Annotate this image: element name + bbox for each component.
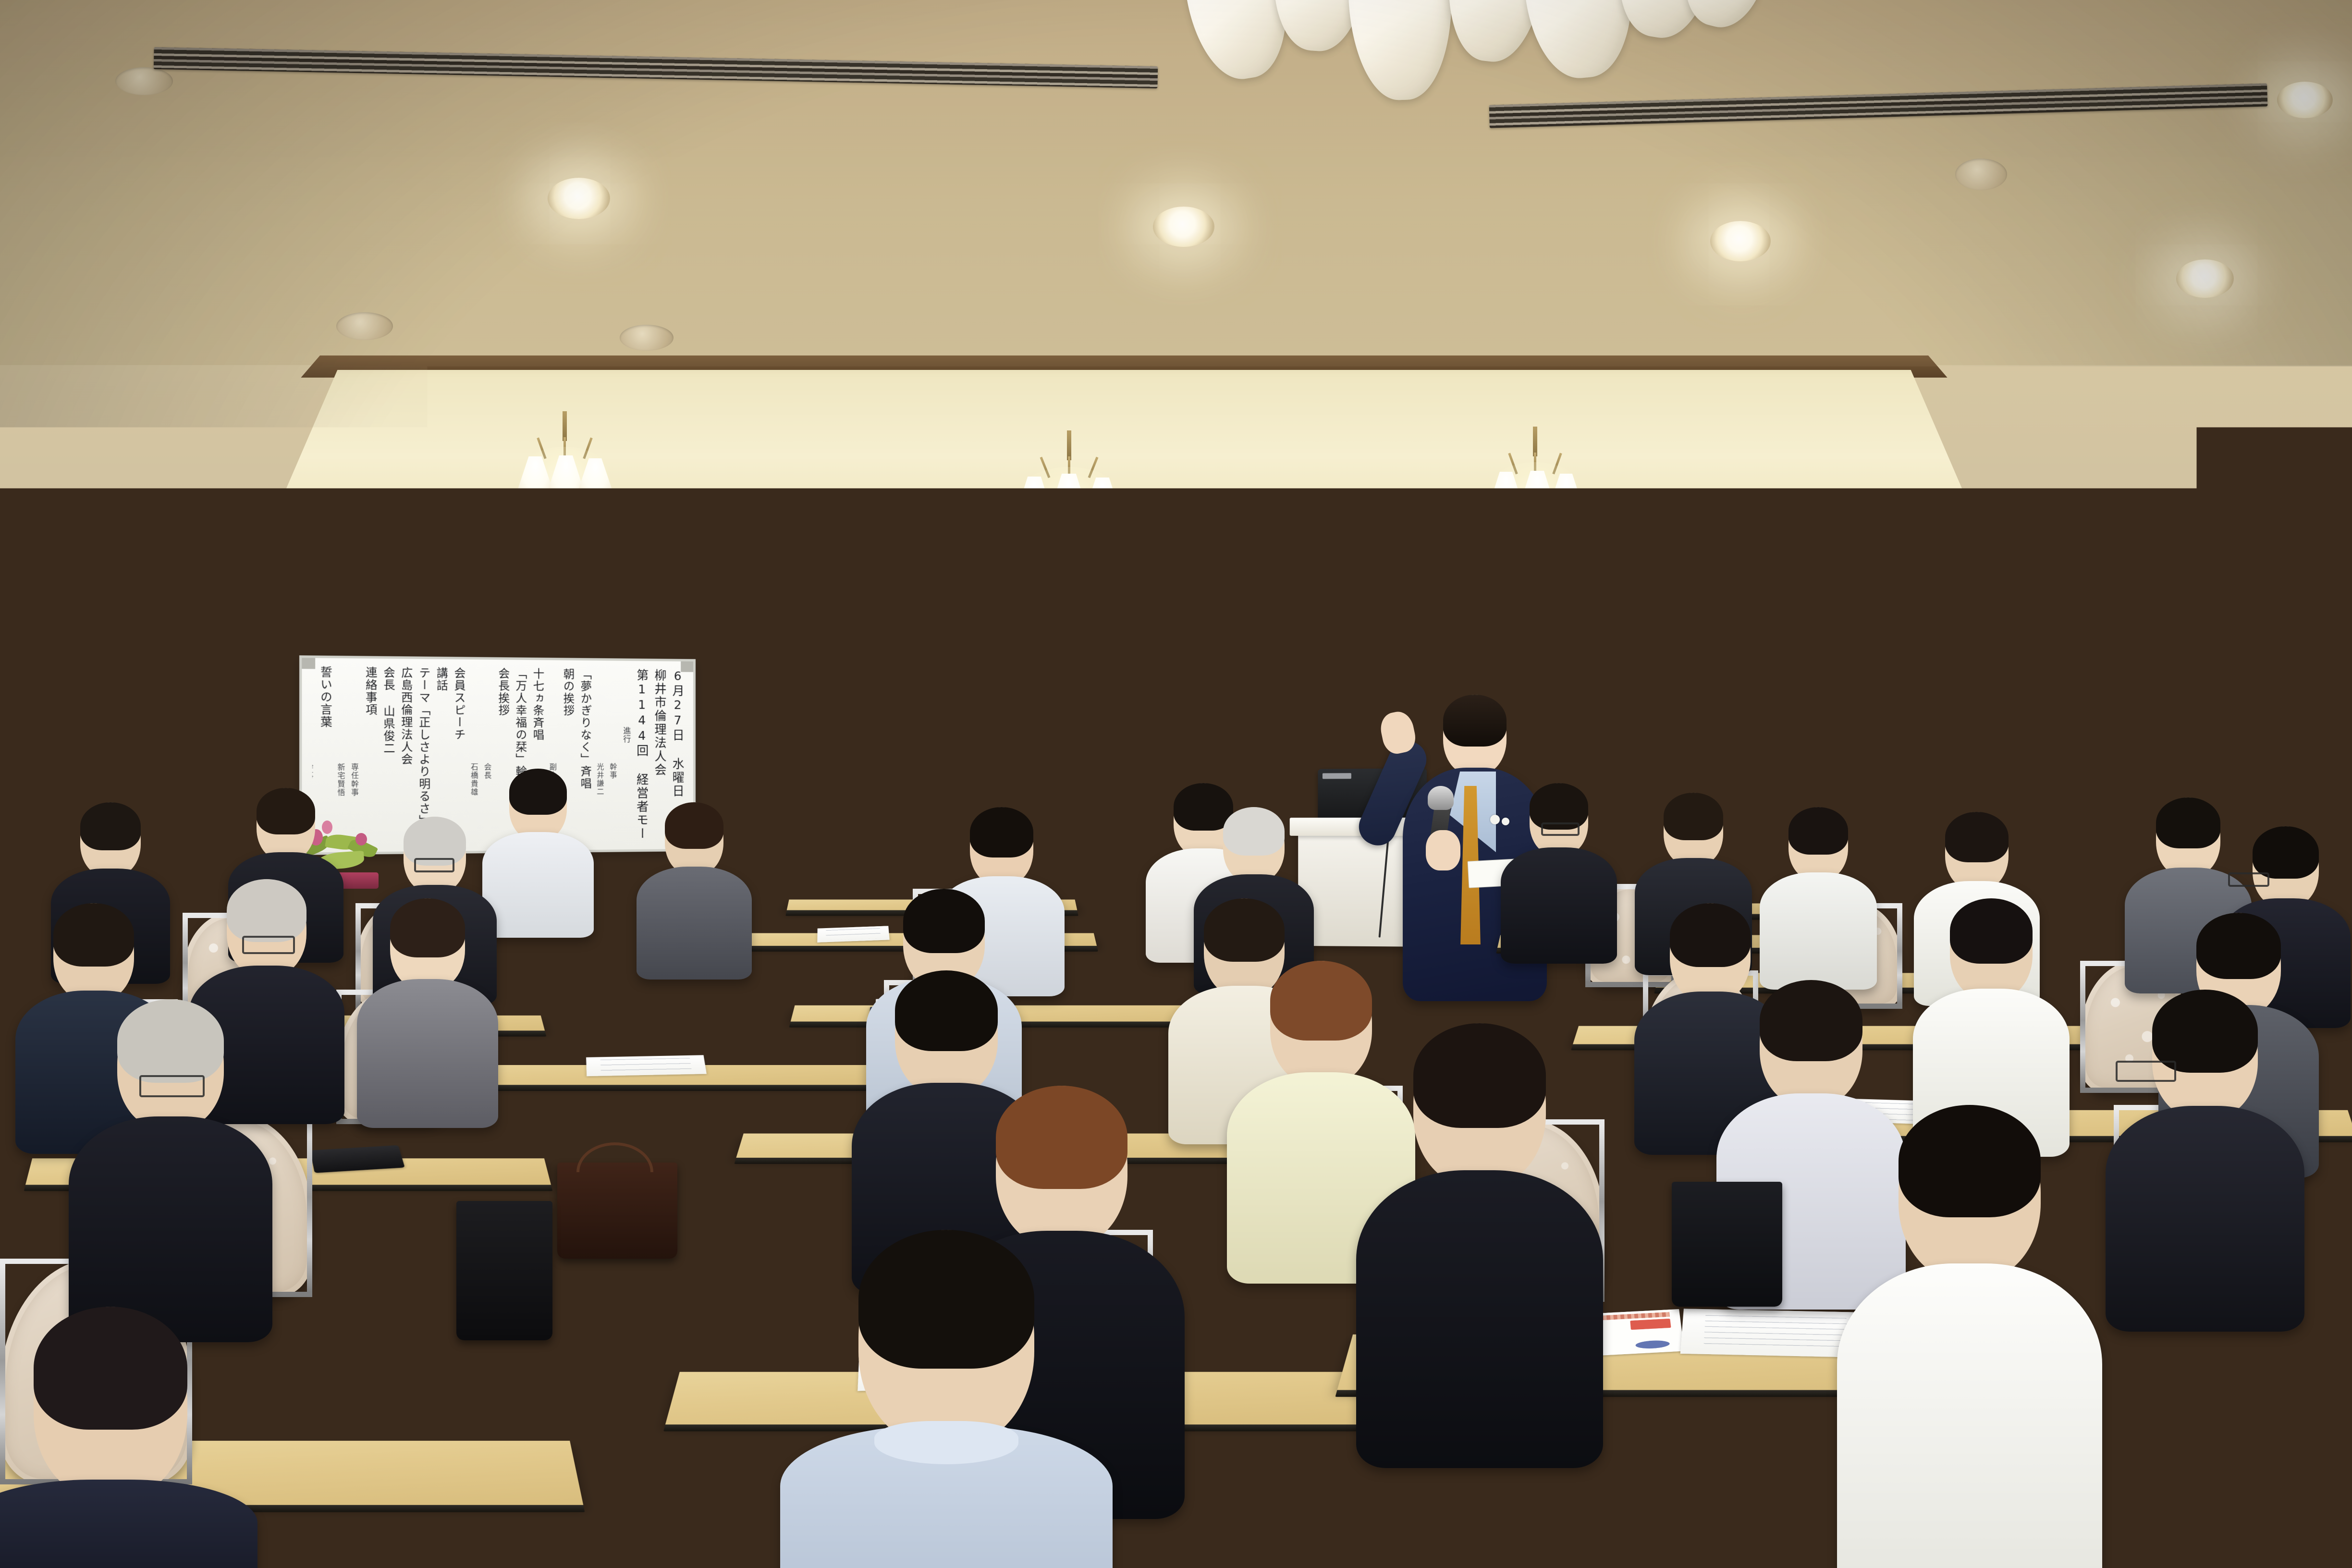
attendee: [67, 999, 274, 1326]
briefcase[interactable]: [456, 1201, 552, 1340]
chandelier-shade: [1523, 0, 1639, 82]
attendee: [1499, 783, 1619, 951]
handout-paper[interactable]: [586, 1055, 707, 1076]
downlight-icon: [2176, 259, 2234, 298]
eyeglasses-icon: [1541, 822, 1580, 836]
presenter-hair: [1443, 695, 1507, 747]
sconce-arm: [696, 600, 699, 618]
attendee: [634, 802, 754, 966]
eyeglasses-icon: [139, 1075, 205, 1097]
pendant-lamp: [1480, 427, 1590, 526]
chandelier-shade: [1347, 0, 1455, 102]
downlight-icon: [1710, 221, 1771, 261]
emergency-exit-sign: [2105, 553, 2195, 596]
attendee: [1912, 898, 2070, 1139]
attendee: [778, 1230, 1115, 1568]
agenda-mc-role: 幹事: [609, 763, 617, 842]
handbag[interactable]: [557, 1163, 677, 1259]
presenter-mic-hand: [1426, 830, 1460, 870]
pendant-lamp: [509, 411, 620, 507]
race-bib-number: 6043: [1104, 720, 1137, 742]
downlight-icon: [2277, 82, 2333, 118]
attendee: [0, 1307, 259, 1568]
slide-photo-left: [850, 628, 1028, 828]
attendee: [355, 898, 500, 1110]
attendee: [2104, 990, 2306, 1316]
sconce-arm: [1306, 611, 1309, 628]
shoulder-bag[interactable]: [1672, 1182, 1782, 1307]
downlight-icon: [336, 312, 393, 340]
lapel-pin-icon: [1490, 815, 1500, 824]
downlight-icon: [1153, 207, 1214, 247]
eyeglasses-icon: [2228, 872, 2269, 887]
downlight-icon: [115, 67, 173, 95]
attendee: [1355, 1023, 1605, 1446]
running-figure-icon: [2133, 563, 2146, 587]
tote-bag[interactable]: [307, 1393, 452, 1547]
microphone-head: [1428, 786, 1454, 810]
chandelier: [1191, 0, 1758, 125]
eyeglasses-icon: [242, 936, 295, 954]
presenter-head: [1443, 695, 1507, 775]
attendee: [1835, 1105, 2104, 1568]
downlight-icon: [620, 325, 674, 351]
microphone-icon: [1936, 699, 1949, 708]
agenda-mc-label: 進行: [622, 727, 630, 842]
smartphone[interactable]: [310, 1145, 405, 1173]
exit-door-icon: [2151, 564, 2167, 585]
downlight-icon: [1955, 159, 2007, 190]
eyeglasses-icon: [414, 858, 454, 872]
downlight-icon: [548, 178, 610, 219]
eyeglasses-icon: [2116, 1061, 2176, 1082]
agenda-mc-name: 光井謙二: [596, 763, 603, 842]
seminar-room-photo: 6043 6月27日 水曜日 柳井市倫理法人会 第1144回 経営者モーニングセ…: [0, 0, 2352, 1568]
